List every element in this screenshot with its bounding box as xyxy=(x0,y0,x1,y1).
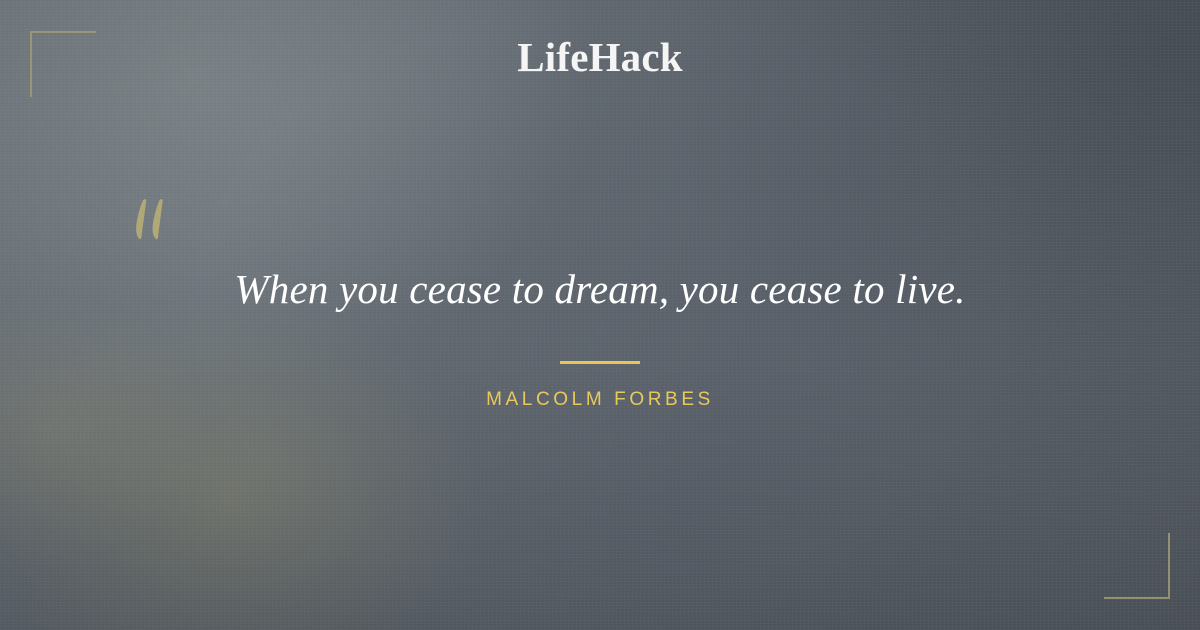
quote-block: When you cease to dream, you cease to li… xyxy=(100,262,1100,316)
gold-divider xyxy=(560,361,640,364)
lifehack-logo: LifeHack xyxy=(0,36,1200,79)
quote-text: When you cease to dream, you cease to li… xyxy=(100,262,1100,316)
corner-bracket-bottom-right-icon xyxy=(1104,533,1170,599)
quote-author: MALCOLM FORBES xyxy=(0,389,1200,411)
quotation-mark-icon xyxy=(132,196,178,248)
quote-card: LifeHack When you cease to dream, you ce… xyxy=(0,0,1200,630)
